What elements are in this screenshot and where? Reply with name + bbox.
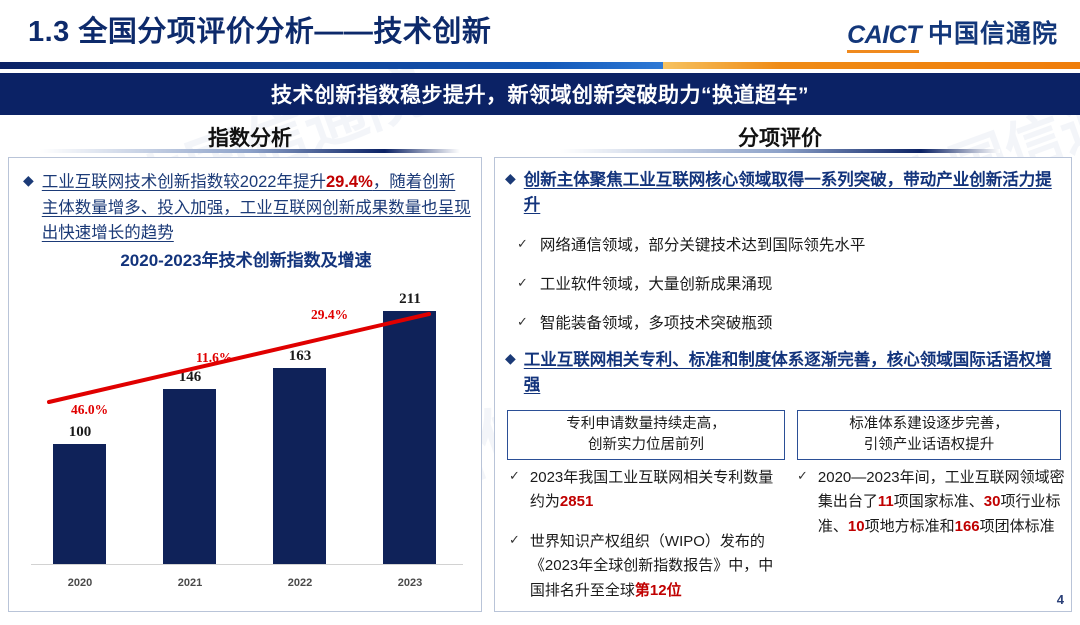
section-underline-right: [560, 149, 1000, 153]
page-title: 1.3 全国分项评价分析——技术创新: [28, 8, 491, 50]
right-heading-1-text: 创新主体聚焦工业互联网核心领域取得一系列突破，带动产业创新活力提升: [524, 168, 1063, 218]
right-heading-1: ◆ 创新主体聚焦工业互联网核心领域取得一系列突破，带动产业创新活力提升: [505, 168, 1063, 218]
x-label-2023: 2023: [370, 577, 450, 589]
sub-box-patent-line2: 创新实力位居前列: [588, 435, 704, 456]
sub-box-patent: 专利申请数量持续走高， 创新实力位居前列: [507, 410, 785, 460]
section-underline-left: [40, 149, 460, 153]
growth-trend-line: [23, 278, 469, 603]
right-check-item: ✓ 工业软件领域，大量创新成果涌现: [517, 273, 772, 296]
caict-logo: CAICT 中国信通院: [847, 14, 1058, 50]
bottom-right-p5: 项团体标准: [980, 518, 1055, 535]
panel-index-analysis: ◆ 工业互联网技术创新指数较2022年提升29.4%，随着创新主体数量增多、投入…: [8, 157, 482, 612]
panel-subitem-evaluation: ◆ 创新主体聚焦工业互联网核心领域取得一系列突破，带动产业创新活力提升 ✓ 网络…: [494, 157, 1072, 612]
right-check-item: ✓ 网络通信领域，部分关键技术达到国际领先水平: [517, 234, 865, 257]
sub-box-patent-line1: 专利申请数量持续走高，: [566, 414, 726, 435]
bottom-left-item-1: ✓ 2023年我国工业互联网相关专利数量约为2851: [509, 466, 781, 515]
left-lead-bullet: ◆ 工业互联网技术创新指数较2022年提升29.4%，随着创新主体数量增多、投入…: [23, 170, 471, 247]
sub-box-standard-line1: 标准体系建设逐步完善，: [849, 414, 1009, 435]
right-check-1-text: 网络通信领域，部分关键技术达到国际领先水平: [540, 234, 866, 257]
section-title-index-analysis: 指数分析: [150, 122, 350, 152]
right-heading-2: ◆ 工业互联网相关专利、标准和制度体系逐渐完善，核心领域国际话语权增强: [505, 348, 1063, 398]
bottom-right-item-text: 2020—2023年间，工业互联网领域密集出台了11项国家标准、30项行业标准、…: [818, 466, 1065, 539]
caict-logo-abbr: CAICT: [847, 21, 921, 50]
sub-box-standard-line2: 引领产业话语权提升: [864, 435, 995, 456]
caict-logo-cn: 中国信通院: [928, 14, 1058, 50]
check-icon: ✓: [517, 234, 528, 257]
bottom-right-n4: 166: [955, 518, 980, 535]
right-check-3-text: 智能装备领域，多项技术突破瓶颈: [540, 312, 773, 335]
bottom-left-item-2: ✓ 世界知识产权组织（WIPO）发布的《2023年全球创新指数报告》中，中国排名…: [509, 530, 781, 603]
right-check-item: ✓ 智能装备领域，多项技术突破瓶颈: [517, 312, 772, 335]
section-title-subitem-eval: 分项评价: [680, 122, 880, 152]
x-label-2021: 2021: [150, 577, 230, 589]
key-message-banner: 技术创新指数稳步提升，新领域创新突破助力“换道超车”: [0, 73, 1080, 115]
caict-underline-bar: [847, 50, 919, 53]
bottom-right-p2: 项国家标准、: [894, 493, 984, 510]
bottom-right-n1: 11: [878, 493, 894, 510]
sub-box-standard: 标准体系建设逐步完善， 引领产业话语权提升: [797, 410, 1061, 460]
banner-text: 技术创新指数稳步提升，新领域创新突破助力“换道超车”: [271, 79, 809, 109]
right-heading-2-text: 工业互联网相关专利、标准和制度体系逐渐完善，核心领域国际话语权增强: [524, 348, 1063, 398]
check-icon: ✓: [797, 466, 808, 539]
header-divider: [0, 62, 1080, 69]
x-label-2022: 2022: [260, 577, 340, 589]
bottom-left-item-2-num: 第12位: [635, 582, 682, 599]
left-lead-highlight: 29.4%: [326, 173, 373, 191]
check-icon: ✓: [509, 466, 520, 515]
check-icon: ✓: [517, 312, 528, 335]
diamond-bullet-icon: ◆: [505, 168, 516, 218]
chart-title: 2020-2023年技术创新指数及增速: [9, 246, 483, 271]
check-icon: ✓: [509, 530, 520, 603]
x-label-2020: 2020: [40, 577, 120, 589]
divider-orange-segment: [663, 62, 1080, 69]
caict-abbr-text: CAICT: [847, 21, 921, 49]
bar-chart: 100 146 163 211 46.0% 11.6% 29.4% 2020 2…: [23, 278, 469, 603]
bottom-left-item-1-num: 2851: [560, 493, 593, 510]
bottom-right-item: ✓ 2020—2023年间，工业互联网领域密集出台了11项国家标准、30项行业标…: [797, 466, 1065, 539]
left-lead-text: 工业互联网技术创新指数较2022年提升29.4%，随着创新主体数量增多、投入加强…: [42, 170, 471, 247]
bottom-right-n2: 30: [984, 493, 1001, 510]
page-number: 4: [1057, 592, 1064, 607]
left-lead-prefix: 工业互联网技术创新指数较2022年提升: [42, 173, 326, 191]
diamond-bullet-icon: ◆: [505, 348, 516, 398]
diamond-bullet-icon: ◆: [23, 170, 34, 247]
bottom-left-item-2-text: 世界知识产权组织（WIPO）发布的《2023年全球创新指数报告》中，中国排名升至…: [530, 530, 781, 603]
bottom-left-item-1-text: 2023年我国工业互联网相关专利数量约为2851: [530, 466, 781, 515]
bottom-right-p4: 项地方标准和: [865, 518, 955, 535]
check-icon: ✓: [517, 273, 528, 296]
divider-blue-segment: [0, 62, 665, 69]
right-check-2-text: 工业软件领域，大量创新成果涌现: [540, 273, 773, 296]
bottom-right-n3: 10: [848, 518, 865, 535]
slide-header: 1.3 全国分项评价分析——技术创新 CAICT 中国信通院: [0, 0, 1080, 62]
